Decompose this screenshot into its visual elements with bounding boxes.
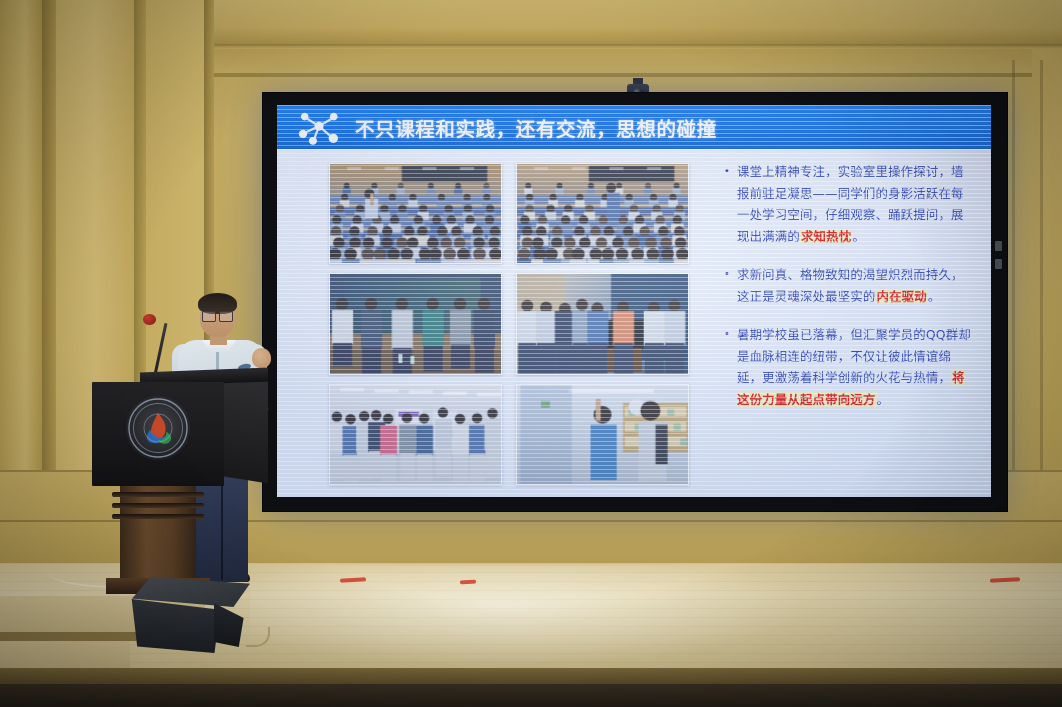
page-title: 不只课程和实践，还有交流，思想的碰撞 bbox=[355, 113, 717, 142]
photo-thumbnail[interactable] bbox=[516, 384, 689, 485]
lectern-molding bbox=[112, 492, 204, 497]
bezel-marker bbox=[995, 241, 1002, 251]
bullet-item: •暑期学校虽已落幕，但汇聚学员的QQ群却是血脉相连的纽带，不仅让彼此情谊绵延，更… bbox=[725, 324, 975, 410]
speaker-hand bbox=[252, 348, 271, 368]
bullet-text-run: 暑期学校虽已落幕，但汇聚学员的QQ群却是血脉相连的纽带，不仅让彼此情谊绵延，更激… bbox=[737, 327, 971, 385]
stage-monitor-speaker bbox=[128, 577, 258, 653]
photo-thumbnail[interactable] bbox=[516, 273, 689, 374]
bullet-text-run: 。 bbox=[928, 289, 941, 304]
eyeglasses-icon bbox=[202, 311, 233, 320]
wall-seam bbox=[1040, 60, 1043, 490]
photo-grid bbox=[329, 163, 689, 485]
highlighted-phrase: 求知热忱 bbox=[800, 229, 852, 244]
bullet-marker: • bbox=[725, 264, 737, 307]
lectern-molding bbox=[112, 514, 204, 519]
stage-front-face bbox=[0, 684, 1062, 707]
wall-seam bbox=[1012, 60, 1015, 490]
bullet-marker: • bbox=[725, 324, 737, 410]
photo-thumbnail[interactable] bbox=[516, 163, 689, 264]
presentation-slide: 不只课程和实践，还有交流，思想的碰撞 •课堂上精神专注，实验室里操作探讨，墙报前… bbox=[277, 105, 991, 497]
bullet-list: •课堂上精神专注，实验室里操作探讨，墙报前驻足凝思——同学们的身影活跃在每一处学… bbox=[725, 161, 975, 427]
stage-tape-mark bbox=[460, 580, 476, 585]
trouser-seam bbox=[221, 470, 223, 580]
bullet-text: 暑期学校虽已落幕，但汇聚学员的QQ群却是血脉相连的纽带，不仅让彼此情谊绵延，更激… bbox=[737, 324, 975, 410]
photo-thumbnail[interactable] bbox=[329, 163, 502, 264]
lecture-hall-scene: 不只课程和实践，还有交流，思想的碰撞 •课堂上精神专注，实验室里操作探讨，墙报前… bbox=[0, 0, 1062, 707]
photo-thumbnail[interactable] bbox=[329, 273, 502, 374]
lectern-side-panel bbox=[224, 373, 268, 484]
lectern-stem bbox=[120, 486, 196, 578]
floor-reflection bbox=[250, 566, 810, 666]
bullet-item: •课堂上精神专注，实验室里操作探讨，墙报前驻足凝思——同学们的身影活跃在每一处学… bbox=[725, 161, 975, 247]
university-emblem bbox=[126, 396, 190, 460]
slide-title-bar: 不只课程和实践，还有交流，思想的碰撞 bbox=[277, 105, 991, 149]
molecule-icon bbox=[293, 107, 345, 147]
bullet-text-run: 。 bbox=[877, 392, 890, 407]
photo-thumbnail[interactable] bbox=[329, 384, 502, 485]
stage-edge bbox=[0, 668, 1062, 684]
monitor-front-face bbox=[128, 599, 220, 653]
bezel-marker bbox=[995, 259, 1002, 269]
bullet-text: 课堂上精神专注，实验室里操作探讨，墙报前驻足凝思——同学们的身影活跃在每一处学习… bbox=[737, 161, 975, 247]
gooseneck-microphone bbox=[143, 314, 156, 325]
bullet-text: 求新问真、格物致知的渴望炽烈而持久，这正是灵魂深处最坚实的内在驱动。 bbox=[737, 264, 975, 307]
bullet-marker: • bbox=[725, 161, 737, 247]
lectern-molding bbox=[112, 503, 204, 508]
projection-screen[interactable]: 不只课程和实践，还有交流，思想的碰撞 •课堂上精神专注，实验室里操作探讨，墙报前… bbox=[262, 92, 1008, 512]
bullet-text-run: 。 bbox=[852, 229, 865, 244]
highlighted-phrase: 内在驱动 bbox=[876, 289, 928, 304]
bullet-item: •求新问真、格物致知的渴望炽烈而持久，这正是灵魂深处最坚实的内在驱动。 bbox=[725, 264, 975, 307]
